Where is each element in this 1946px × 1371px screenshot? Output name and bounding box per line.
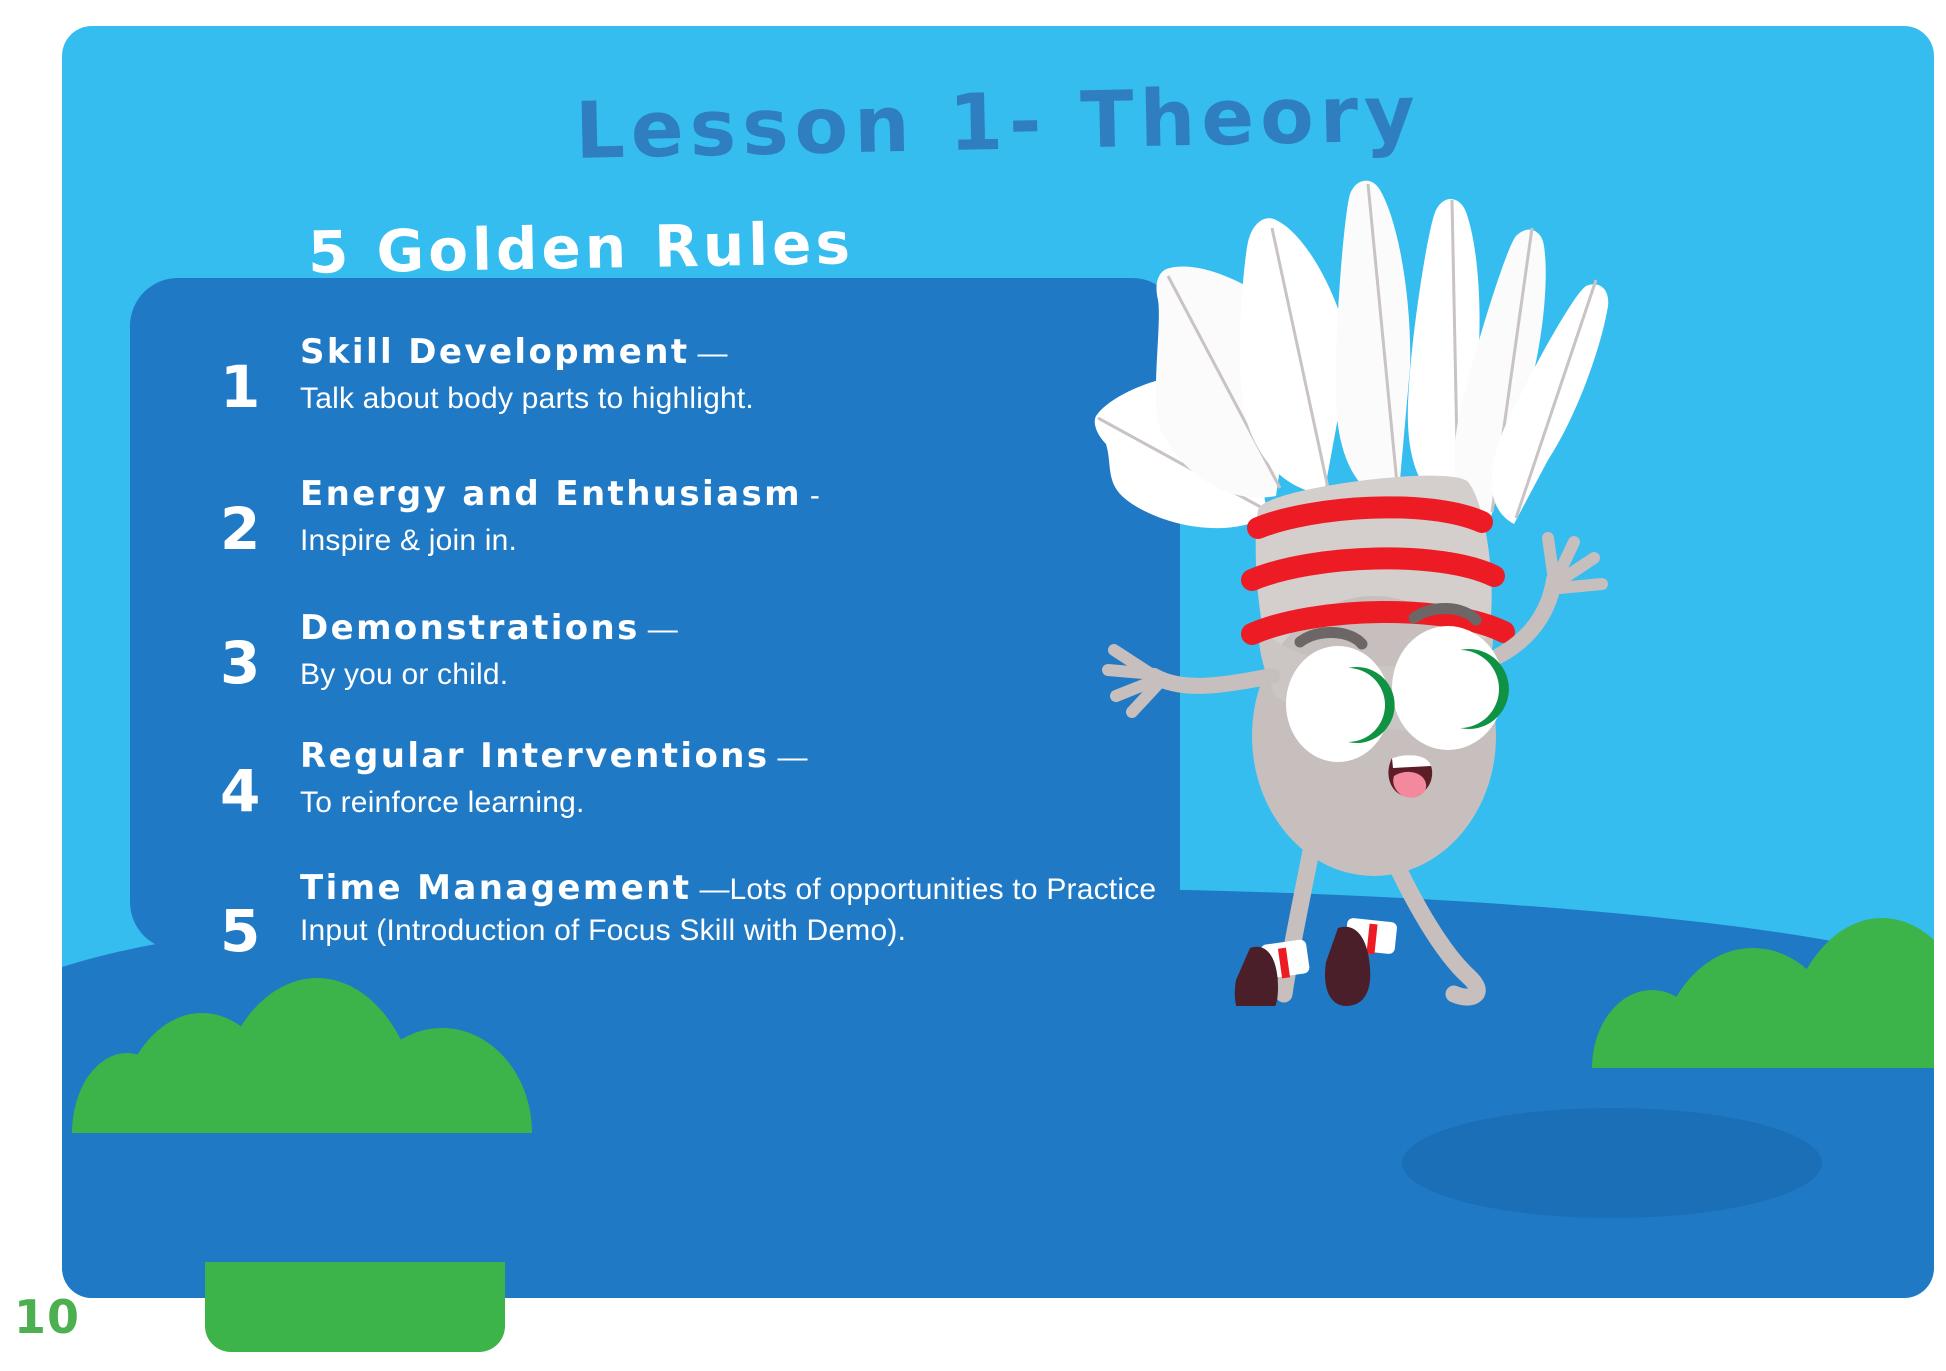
feathers — [1095, 181, 1609, 529]
rule-number-1: 1 — [220, 332, 292, 416]
rule-description-3: By you or child. — [300, 655, 1160, 696]
rule-number-4: 4 — [220, 736, 292, 820]
rule-description-5: Input (Introduction of Focus Skill with … — [300, 911, 1160, 952]
rule-dash-2: - — [802, 479, 820, 512]
left-hand — [1108, 650, 1158, 712]
subtitle: 5 Golden Rules — [307, 209, 854, 287]
rule-title-3: Demonstrations — [300, 608, 640, 648]
rule-item-3: 3 Demonstrations— By you or child. — [220, 608, 1160, 695]
rule-body-4: Regular Interventions— To reinforce lear… — [292, 736, 1160, 823]
rule-body-5: Time Management—Lots of opportunities to… — [292, 868, 1160, 951]
rule-item-2: 2 Energy and Enthusiasm- Inspire & join … — [220, 474, 1160, 561]
right-hand — [1548, 538, 1602, 588]
left-eye-white — [1286, 646, 1390, 762]
page-canvas: Lesson 1- Theory 5 Golden Rules 1 Skill … — [0, 0, 1946, 1371]
rule-item-5: 5 Time Management—Lots of opportunities … — [220, 868, 1160, 960]
rule-description-4: To reinforce learning. — [300, 783, 1160, 824]
golden-rules-panel: 1 Skill Development— Talk about body par… — [130, 278, 1180, 950]
character-shadow — [1402, 1108, 1822, 1218]
rule-number-3: 3 — [220, 608, 292, 692]
rule-title-1: Skill Development — [300, 332, 690, 372]
rule-title-4: Regular Interventions — [300, 736, 769, 776]
rule-description-2: Inspire & join in. — [300, 521, 1160, 562]
rule-body-3: Demonstrations— By you or child. — [292, 608, 1160, 695]
rule-dash-5: — — [691, 873, 729, 906]
shuttlecock-mascot — [1062, 176, 1622, 1006]
page-number: 10 — [14, 1290, 80, 1344]
rule-number-5: 5 — [220, 868, 292, 960]
rule-body-2: Energy and Enthusiasm- Inspire & join in… — [292, 474, 1160, 561]
rule-body-1: Skill Development— Talk about body parts… — [292, 332, 1160, 419]
rule-item-1: 1 Skill Development— Talk about body par… — [220, 332, 1160, 419]
rule-dash-1: — — [690, 337, 728, 370]
rule-dash-3: — — [640, 613, 678, 646]
rule-title-5: Time Management — [300, 868, 691, 908]
slide-card: Lesson 1- Theory 5 Golden Rules 1 Skill … — [62, 26, 1934, 1298]
right-eye-white — [1392, 626, 1504, 750]
rule-dash-4: — — [769, 741, 807, 774]
rule-title-2: Energy and Enthusiasm — [300, 474, 802, 514]
bottom-left-green-accent — [205, 1262, 505, 1352]
rule-item-4: 4 Regular Interventions— To reinforce le… — [220, 736, 1160, 823]
rule-description-1: Talk about body parts to highlight. — [300, 379, 1160, 420]
page-title: Lesson 1- Theory — [62, 58, 1934, 187]
rule-number-2: 2 — [220, 474, 292, 558]
